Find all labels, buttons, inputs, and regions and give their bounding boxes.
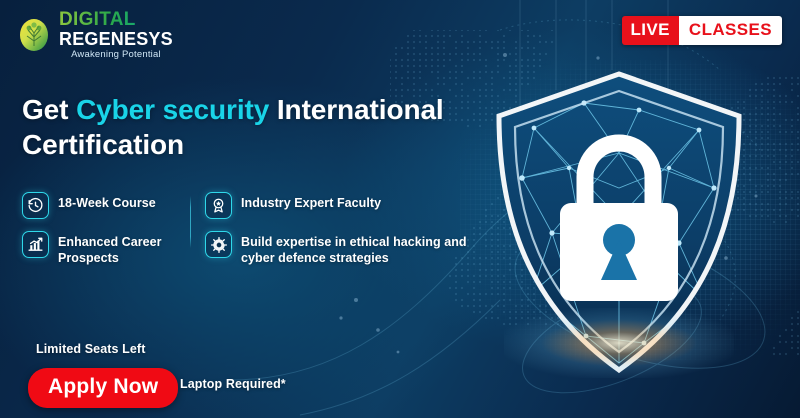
feature-label: Enhanced Career Prospects: [58, 231, 190, 266]
logo-tagline: Awakening Potential: [59, 50, 173, 60]
clock-icon: [22, 192, 49, 219]
feature-label: Build expertise in ethical hacking and c…: [241, 231, 482, 266]
badge-classes-label: CLASSES: [679, 16, 782, 45]
limited-seats-text: Limited Seats Left: [36, 342, 145, 356]
brand-logo[interactable]: DIGITAL REGENESYS Awakening Potential: [16, 10, 173, 60]
award-badge-icon: [205, 192, 232, 219]
feature-label: 18-Week Course: [58, 192, 156, 212]
feature-column-divider: [190, 196, 191, 248]
headline-part-1: Get: [22, 94, 76, 125]
apply-now-button[interactable]: Apply Now: [28, 368, 178, 408]
shield-network-icon: [474, 58, 764, 388]
feature-label: Industry Expert Faculty: [241, 192, 381, 212]
tree-emblem-icon: [16, 17, 52, 53]
logo-regenesys-text: REGENESYS: [59, 30, 173, 48]
headline-highlight: Cyber security: [76, 94, 269, 125]
feature-item-career-prospects: Enhanced Career Prospects: [22, 231, 190, 266]
badge-live-label: LIVE: [622, 16, 679, 45]
feature-item-expert-faculty: Industry Expert Faculty: [205, 192, 482, 219]
live-classes-badge: LIVE CLASSES: [622, 16, 782, 45]
feature-item-course-duration: 18-Week Course: [22, 192, 190, 219]
gear-cog-icon: [205, 231, 232, 258]
page-title: Get Cyber security International Certifi…: [22, 92, 492, 162]
feature-column-right: Industry Expert Faculty Build expertise …: [205, 192, 482, 278]
laptop-required-note: Laptop Required*: [180, 377, 286, 391]
feature-list: 18-Week Course Enhanced Career Pr: [22, 192, 482, 278]
feature-column-left: 18-Week Course Enhanced Career Pr: [22, 192, 190, 278]
logo-digital-text: DIGITAL: [59, 10, 173, 29]
feature-item-ethical-hacking: Build expertise in ethical hacking and c…: [205, 231, 482, 266]
cybersecurity-promo-banner: DIGITAL REGENESYS Awakening Potential LI…: [0, 0, 800, 418]
bar-chart-growth-icon: [22, 231, 49, 258]
